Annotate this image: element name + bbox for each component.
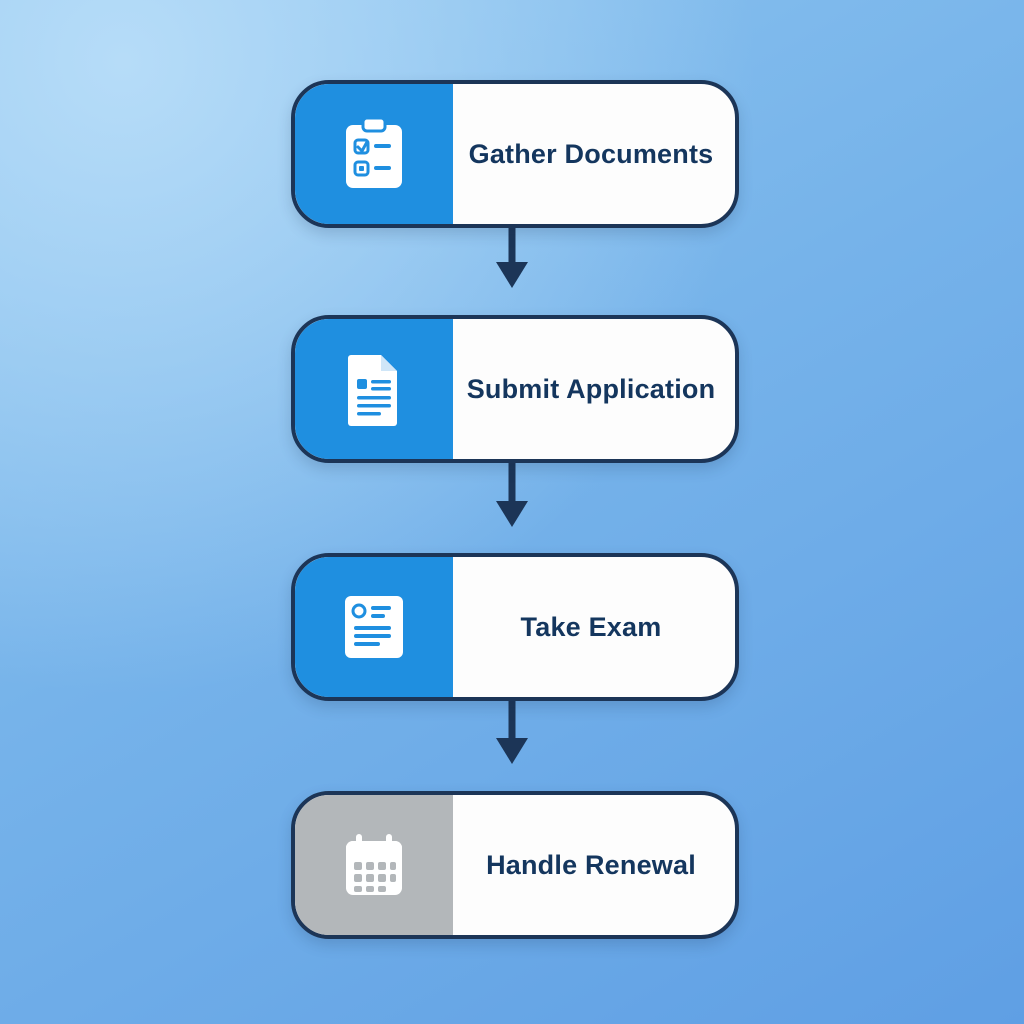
- flow-step-gather-documents[interactable]: Gather Documents: [291, 80, 739, 228]
- document-page-icon: [343, 352, 405, 426]
- calendar-icon: [341, 832, 407, 898]
- icon-pane-1: [295, 84, 453, 224]
- flow-step-take-exam[interactable]: Take Exam: [291, 553, 739, 701]
- icon-pane-3: [295, 557, 453, 697]
- flow-step-label: Handle Renewal: [453, 850, 735, 881]
- flow-step-label: Submit Application: [453, 374, 735, 405]
- flow-step-label: Take Exam: [453, 612, 735, 643]
- exam-form-icon: [342, 593, 406, 661]
- diagram-canvas: Gather Documents Sub: [0, 0, 1024, 1024]
- flow-step-submit-application[interactable]: Submit Application: [291, 315, 739, 463]
- flow-step-label: Gather Documents: [453, 139, 735, 170]
- flow-step-handle-renewal[interactable]: Handle Renewal: [291, 791, 739, 939]
- icon-pane-4: [295, 795, 453, 935]
- clipboard-checklist-icon: [343, 117, 405, 191]
- flow-steps: Gather Documents Sub: [0, 0, 1024, 1024]
- icon-pane-2: [295, 319, 453, 459]
